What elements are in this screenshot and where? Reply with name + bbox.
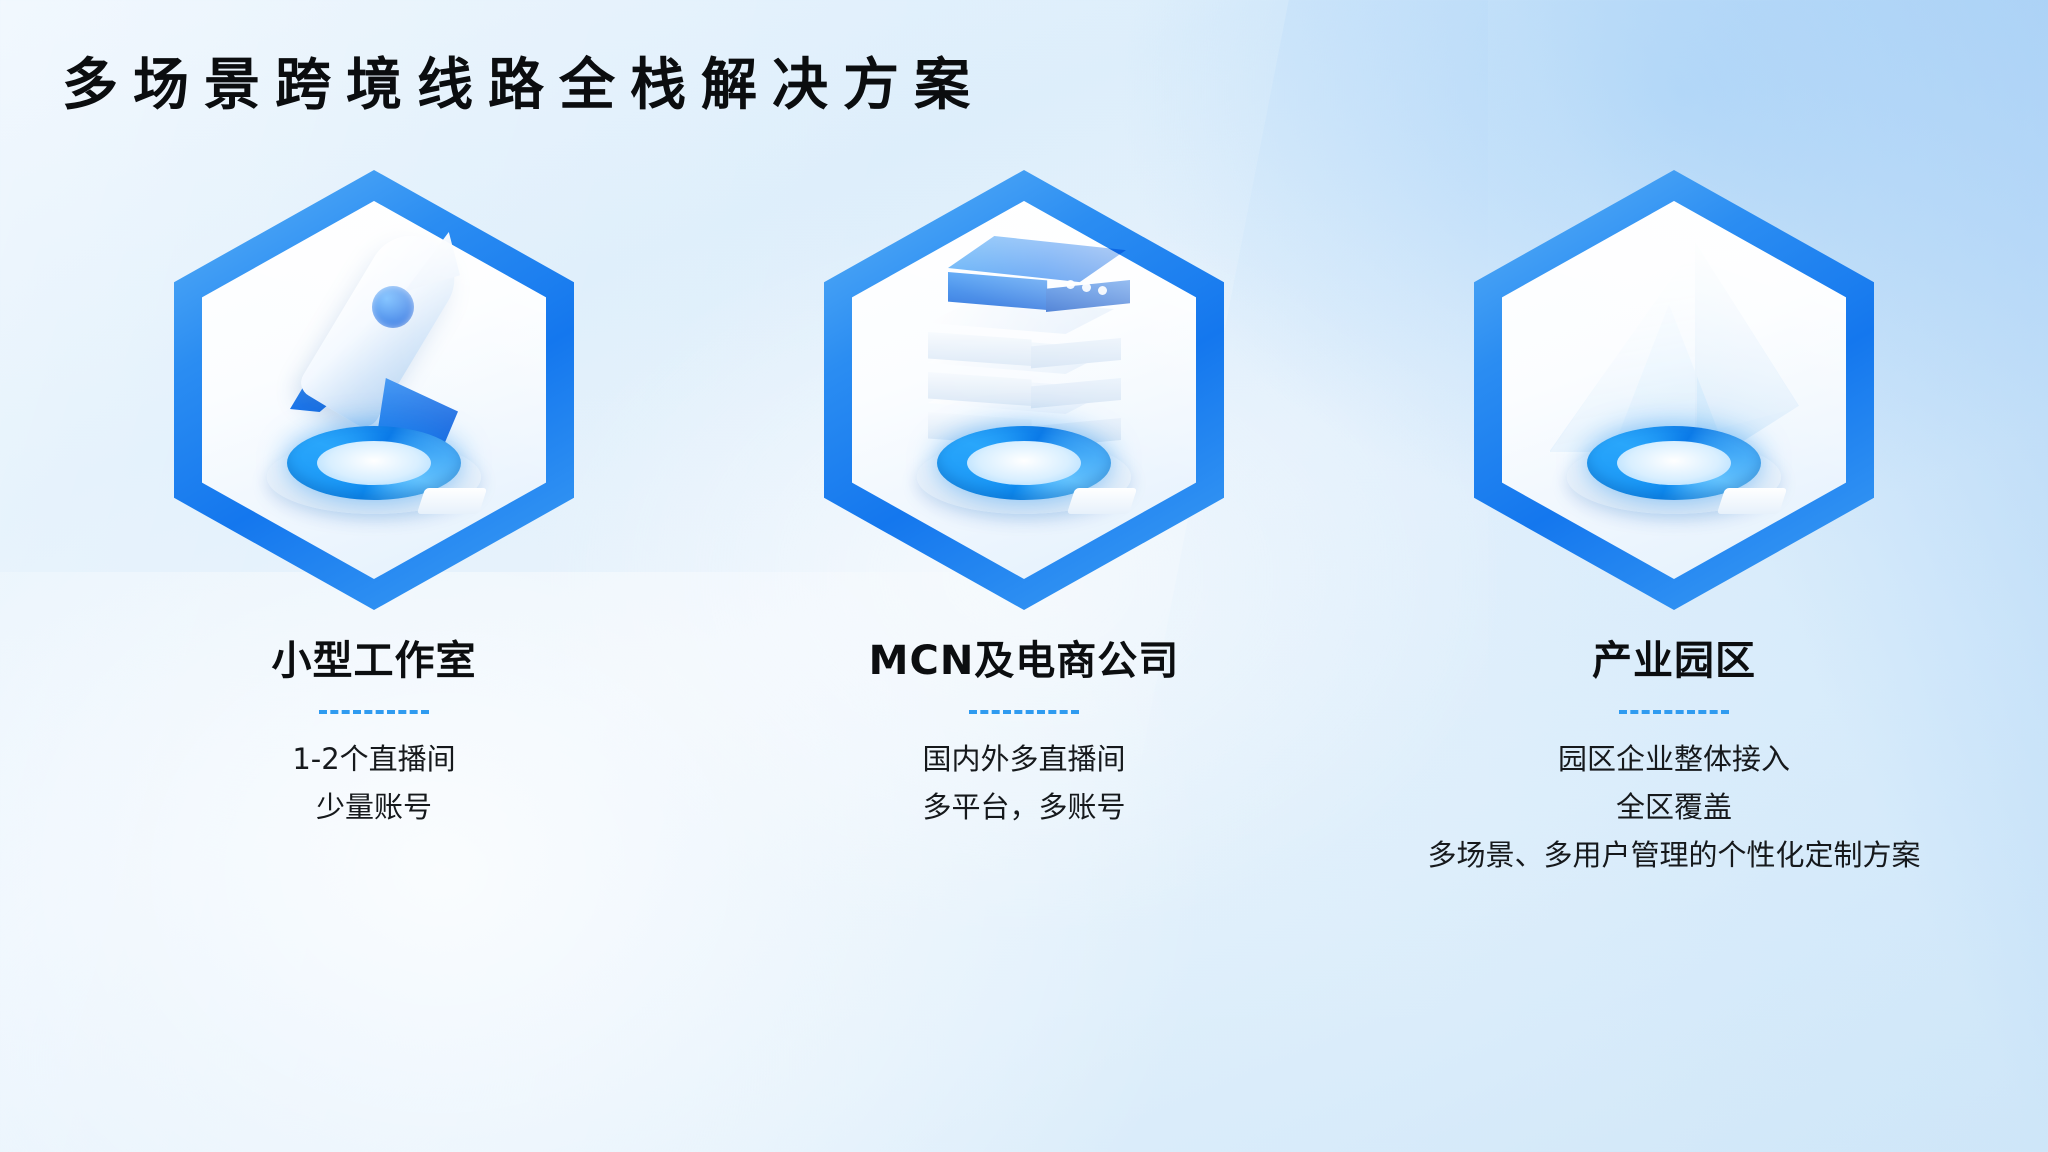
page-title: 多场景跨境线路全栈解决方案 — [62, 52, 985, 119]
solution-card-small-studio[interactable]: 小型工作室 1-2个直播间 少量账号 — [114, 170, 634, 832]
card-divider — [969, 710, 1079, 714]
card-title: 产业园区 — [1592, 628, 1756, 686]
card-divider — [319, 710, 429, 714]
card-desc-line: 多平台，多账号 — [922, 784, 1125, 832]
solution-card-mcn-ecommerce[interactable]: MCN及电商公司 国内外多直播间 多平台，多账号 — [764, 170, 1284, 832]
card-description: 国内外多直播间 多平台，多账号 — [922, 736, 1125, 832]
hexagon-badge-3 — [1474, 170, 1874, 610]
card-title: 小型工作室 — [272, 628, 477, 686]
card-title: MCN及电商公司 — [869, 628, 1180, 686]
card-desc-line: 1-2个直播间 — [292, 736, 455, 784]
solution-card-list: 小型工作室 1-2个直播间 少量账号 — [0, 170, 2048, 880]
glow-pedestal-3 — [1559, 422, 1789, 518]
card-desc-line: 园区企业整体接入 — [1427, 736, 1920, 784]
hexagon-badge-2 — [824, 170, 1224, 610]
glow-pedestal-2 — [909, 422, 1139, 518]
card-desc-line: 全区覆盖 — [1427, 784, 1920, 832]
glow-pedestal-1 — [259, 422, 489, 518]
card-desc-line: 多场景、多用户管理的个性化定制方案 — [1427, 832, 1920, 880]
card-description: 1-2个直播间 少量账号 — [292, 736, 455, 832]
card-divider — [1619, 710, 1729, 714]
card-desc-line: 少量账号 — [292, 784, 455, 832]
solution-card-industrial-park[interactable]: 产业园区 园区企业整体接入 全区覆盖 多场景、多用户管理的个性化定制方案 — [1414, 170, 1934, 880]
card-description: 园区企业整体接入 全区覆盖 多场景、多用户管理的个性化定制方案 — [1427, 736, 1920, 880]
card-desc-line: 国内外多直播间 — [922, 736, 1125, 784]
hexagon-badge-1 — [174, 170, 574, 610]
